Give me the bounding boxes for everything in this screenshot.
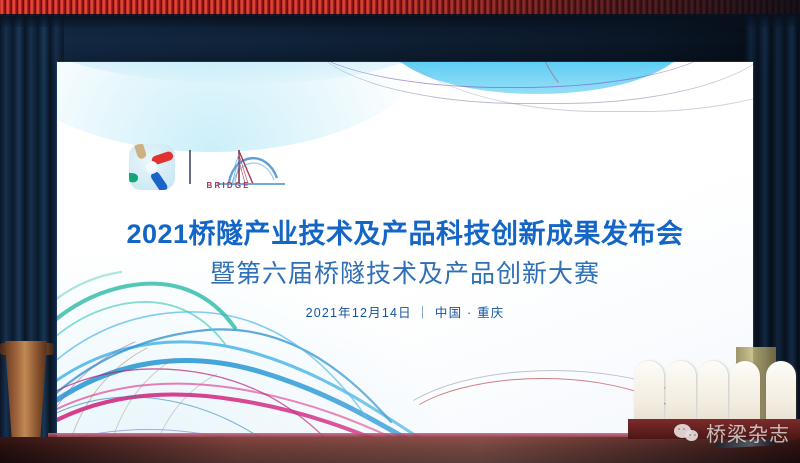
wechat-icon (674, 422, 700, 444)
bridge-wordmark: BRIDGE (207, 181, 251, 190)
event-title: 2021桥隧产业技术及产品科技创新成果发布会 (57, 212, 753, 251)
wechat-eye (694, 434, 696, 436)
wechat-eye (678, 428, 680, 430)
event-dateline: 2021年12月14日 ｜ 中国 · 重庆 (57, 302, 753, 321)
stage-photo: BRIDGE 2021桥隧产业技术及产品科技创新成果发布会 暨第六届桥隧技术及产… (0, 0, 800, 463)
pinwheel-badge-logo (129, 144, 175, 190)
pinwheel-blade-tan (132, 144, 147, 160)
logo-lockup: BRIDGE (129, 144, 287, 190)
watermark-text: 桥梁杂志 (706, 418, 790, 447)
wechat-eye (683, 428, 685, 430)
valance-shadow (0, 14, 800, 27)
logo-divider (189, 150, 191, 184)
bridge-logo: BRIDGE (205, 144, 287, 190)
wechat-bubble-small (685, 430, 698, 441)
pinwheel-core (145, 161, 158, 174)
event-subtitle: 暨第六届桥隧技术及产品创新大赛 (57, 254, 753, 290)
pinwheel-blade-green (129, 171, 139, 183)
watermark: 桥梁杂志 (674, 418, 790, 447)
wechat-eye (689, 434, 691, 436)
